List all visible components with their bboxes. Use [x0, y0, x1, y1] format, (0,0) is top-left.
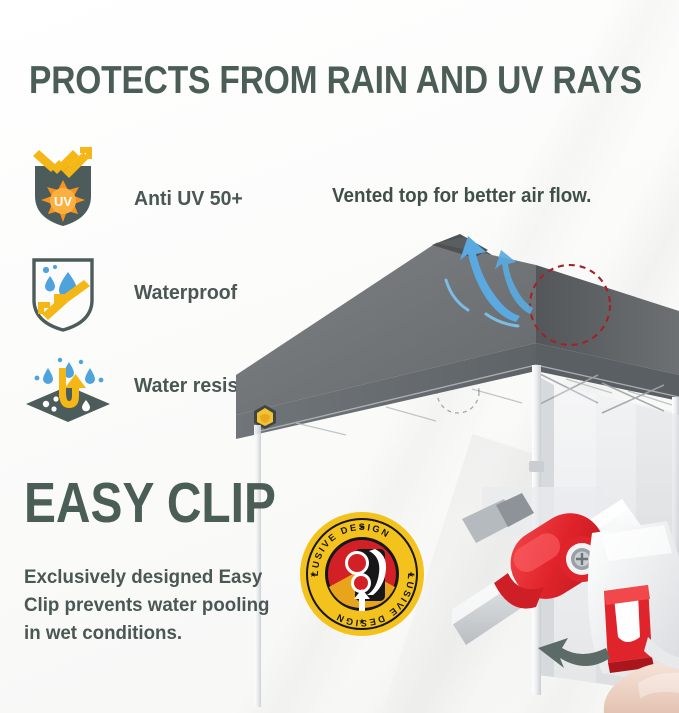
clip-motion-arrow-icon — [528, 614, 614, 674]
badge-star-bottom: ★ — [358, 617, 365, 626]
vented-top-caption: Vented top for better air flow. — [332, 183, 591, 209]
canopy-detail-circle — [434, 368, 482, 416]
water-resistant-icon — [24, 352, 112, 424]
exclusive-design-badge: EXCLUSIVE DESIGN EXCLUSIVE DESIGN ★ ★ ★ … — [299, 511, 425, 637]
badge-star-top: ★ — [358, 523, 365, 532]
feature-label-anti-uv: Anti UV 50+ — [134, 186, 243, 211]
easy-clip-hardware-image — [452, 487, 679, 713]
badge-star-left: ★ — [309, 570, 316, 579]
uv-shield-icon: UV — [27, 144, 99, 228]
infographic-canvas: PROTECTS FROM RAIN AND UV RAYS UV Anti U… — [0, 0, 679, 713]
waterproof-shield-icon — [28, 252, 98, 332]
uv-badge-text: UV — [54, 194, 72, 209]
badge-star-right: ★ — [407, 570, 414, 579]
airflow-arrows-icon — [438, 228, 548, 338]
page-title: PROTECTS FROM RAIN AND UV RAYS — [29, 59, 642, 103]
feature-label-waterproof: Waterproof — [134, 280, 237, 305]
section-heading-easy-clip: EASY CLIP — [24, 472, 276, 534]
section-body-text: Exclusively designed Easy Clip prevents … — [24, 563, 281, 647]
